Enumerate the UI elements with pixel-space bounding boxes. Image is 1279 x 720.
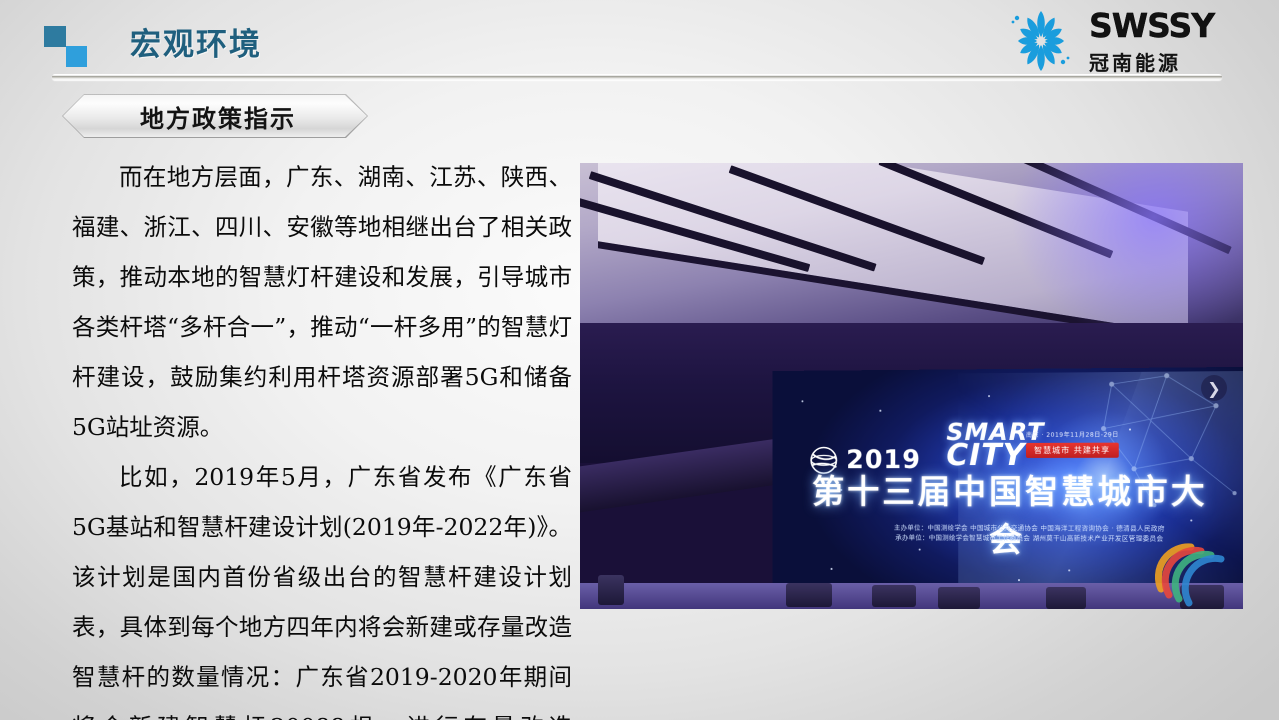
paragraph-1: 而在地方层面，广东、湖南、江苏、陕西、福建、浙江、四川、安徽等地相继出台了相关政… [72, 152, 572, 452]
square-dark-icon [44, 26, 66, 47]
ceiling-light-glow [1010, 163, 1243, 343]
conference-photo: 2019 SMART CITY 南京 · 2019年11月28日-29日 智慧城… [580, 163, 1243, 609]
photo-ceiling [580, 163, 1243, 343]
stage-speaker [938, 587, 980, 609]
stage-speaker [598, 575, 624, 605]
brand-logo: SWSSY 冠南能源 [999, 6, 1261, 76]
logo-text-block: SWSSY 冠南能源 [1089, 9, 1259, 76]
rainbow-rings-logo-icon [1149, 527, 1239, 607]
header-decoration-squares [44, 26, 90, 66]
paragraph-2: 比如，2019年5月，广东省发布《广东省5G基站和智慧杆建设计划(2019年-2… [72, 452, 572, 720]
screen-slogan-badge: 智慧城市 共建共享 [1026, 443, 1118, 458]
screen-date-bar: 南京 · 2019年11月28日-29日 [1026, 430, 1119, 439]
stage-speaker [786, 583, 832, 607]
photo-next-button[interactable]: ❯ [1201, 375, 1227, 401]
wall-beam [580, 438, 780, 514]
section-banner-label: 地方政策指示 [62, 94, 368, 138]
swssy-flower-logo-icon [999, 8, 1083, 72]
fine-print-line-2: 承办单位：中国测绘学会智慧城市工作委员会 湖州莫干山高新技术产业开发区管理委员会 [889, 533, 1170, 544]
body-text: 而在地方层面，广东、湖南、江苏、陕西、福建、浙江、四川、安徽等地相继出台了相关政… [72, 152, 572, 720]
page-title: 宏观环境 [130, 19, 262, 64]
section-banner: 地方政策指示 [62, 94, 368, 138]
logo-chinese-name: 冠南能源 [1089, 47, 1259, 76]
chevron-right-icon: ❯ [1207, 379, 1220, 398]
square-light-icon [66, 46, 87, 67]
slide-header: 宏观环境 [0, 0, 1279, 92]
stage-speaker [872, 585, 916, 607]
stage-speaker [1046, 587, 1086, 609]
logo-wordmark: SWSSY [1089, 9, 1259, 43]
screen-fine-print: 主办单位：中国测绘学会 中国城市公共交通协会 中国海洋工程咨询协会 · 德清县人… [889, 523, 1170, 544]
